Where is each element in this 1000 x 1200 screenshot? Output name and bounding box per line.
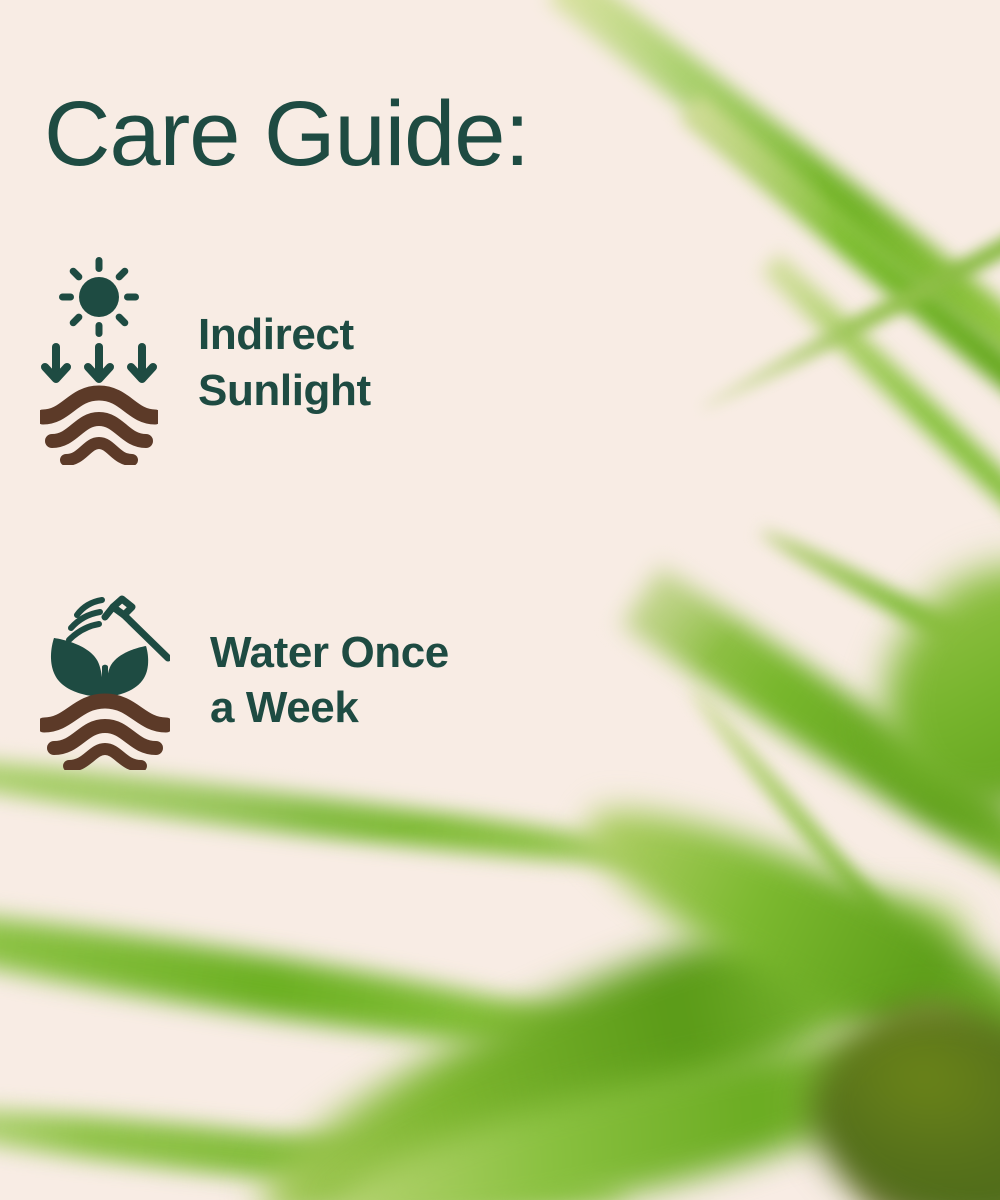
page-title: Care Guide: [44,88,529,180]
care-guide-panel: Care Guide: [0,0,1000,1200]
sprout-leaves-icon [51,638,148,703]
care-item-label: Indirect Sunlight [198,307,371,418]
sun-icon [59,257,139,337]
spray-lines-icon [69,600,102,640]
sprout-watering-can-soil-icon [40,585,170,775]
care-item-label: Water Once a Week [210,625,449,736]
down-arrow-icon [45,347,153,379]
care-item-sunlight: Indirect Sunlight [40,255,371,470]
sun-arrows-soil-icon [40,255,158,470]
soil-waves-icon [43,393,155,460]
soil-waves-icon [44,701,166,766]
care-item-water: Water Once a Week [40,585,449,775]
